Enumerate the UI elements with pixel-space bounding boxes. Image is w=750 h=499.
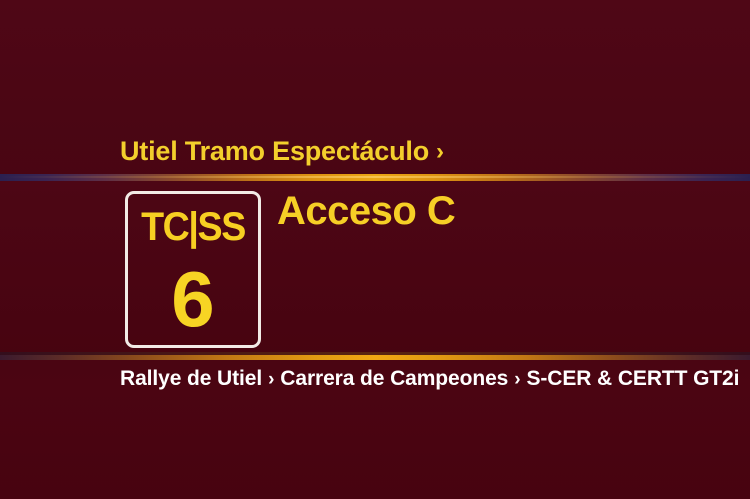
breadcrumb-separator-icon: ›	[514, 370, 520, 389]
breadcrumb: Rallye de Utiel›Carrera de Campeones›S-C…	[120, 368, 739, 389]
title-card: Utiel Tramo Espectáculo› TC|SS 6 Acceso …	[0, 0, 750, 499]
divider-top-glow	[0, 176, 750, 178]
section-eyebrow: Utiel Tramo Espectáculo›	[120, 138, 444, 165]
breadcrumb-item-2: S-CER & CERTT GT2i	[526, 367, 739, 390]
chevron-right-icon: ›	[436, 140, 444, 164]
series-logo-text: TC|SS	[132, 207, 254, 247]
eyebrow-label: Utiel Tramo Espectáculo	[120, 136, 429, 166]
divider-bottom	[0, 355, 750, 360]
stage-number-plate: TC|SS 6	[125, 191, 261, 348]
breadcrumb-item-1: Carrera de Campeones	[280, 367, 508, 390]
breadcrumb-item-0: Rallye de Utiel	[120, 367, 262, 390]
stage-number: 6	[128, 260, 258, 338]
page-title: Acceso C	[277, 191, 455, 231]
breadcrumb-separator-icon: ›	[268, 370, 274, 389]
